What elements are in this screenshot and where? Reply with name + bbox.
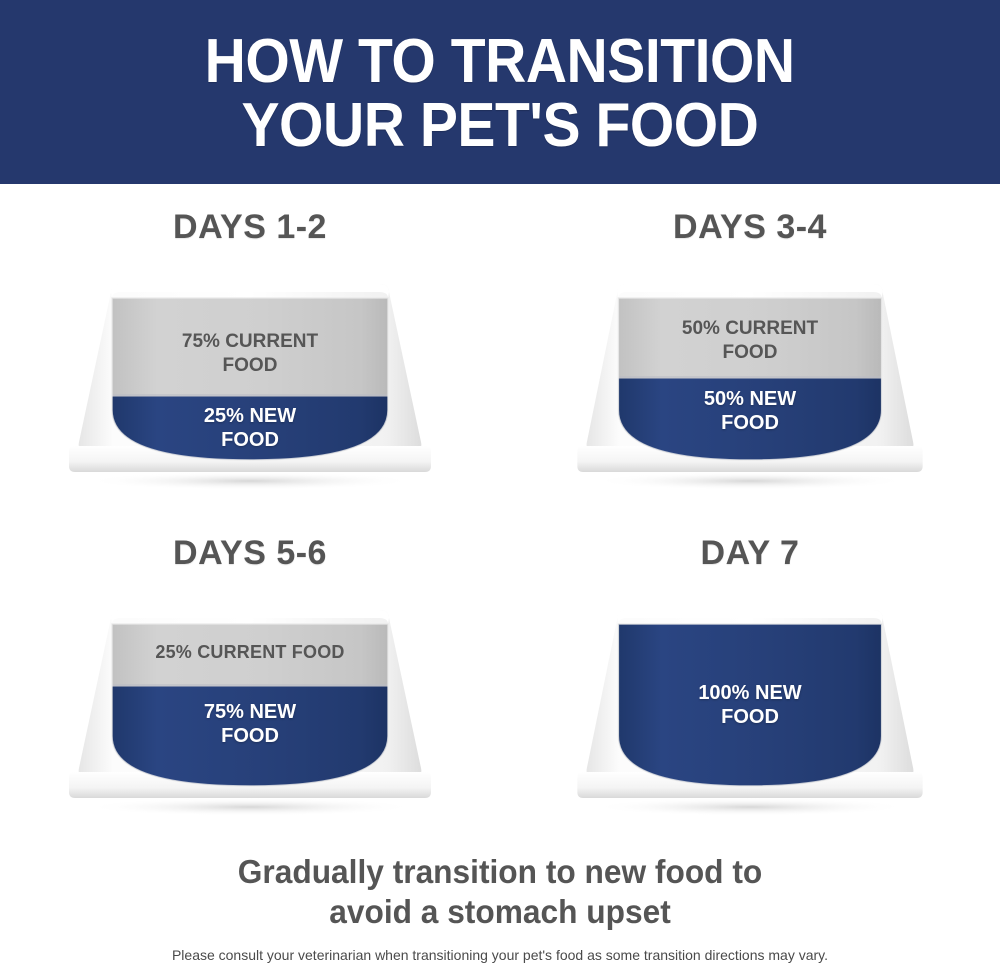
bowl-illustration-3 — [55, 596, 445, 818]
page-title-line-2: YOUR PET'S FOOD — [242, 94, 759, 158]
food-bowl-3: 25% CURRENT FOOD 75% NEW FOOD — [55, 596, 445, 818]
bowl-illustration-1 — [55, 270, 445, 492]
step-day-label-1: DAYS 1-2 — [0, 208, 500, 247]
transition-step-card-1: DAYS 1-2 — [0, 184, 500, 510]
bowl-illustration-2 — [564, 270, 936, 492]
transition-step-card-3: DAYS 5-6 — [0, 510, 500, 836]
footer-tagline-line-2: avoid a stomach upset — [20, 892, 980, 932]
step-day-label-2: DAYS 3-4 — [500, 208, 1000, 247]
food-bowl-2: 50% CURRENT FOOD 50% NEW FOOD — [564, 270, 936, 492]
page-title-line-1: HOW TO TRANSITION — [205, 30, 795, 94]
transition-steps-grid: DAYS 1-2 — [0, 184, 1000, 836]
header-banner: HOW TO TRANSITION YOUR PET'S FOOD — [0, 0, 1000, 184]
footer-disclaimer: Please consult your veterinarian when tr… — [0, 946, 1000, 964]
transition-step-card-4: DAY 7 — [500, 510, 1000, 836]
food-bowl-1: 75% CURRENT FOOD 25% NEW FOOD — [55, 270, 445, 492]
bowl-illustration-4 — [564, 596, 936, 818]
step-day-label-4: DAY 7 — [500, 534, 1000, 573]
transition-step-card-2: DAYS 3-4 — [500, 184, 1000, 510]
food-bowl-4: 100% NEW FOOD — [564, 596, 936, 818]
footer-tagline: Gradually transition to new food to avoi… — [20, 852, 980, 932]
step-day-label-3: DAYS 5-6 — [0, 534, 500, 573]
footer-tagline-line-1: Gradually transition to new food to — [20, 852, 980, 892]
